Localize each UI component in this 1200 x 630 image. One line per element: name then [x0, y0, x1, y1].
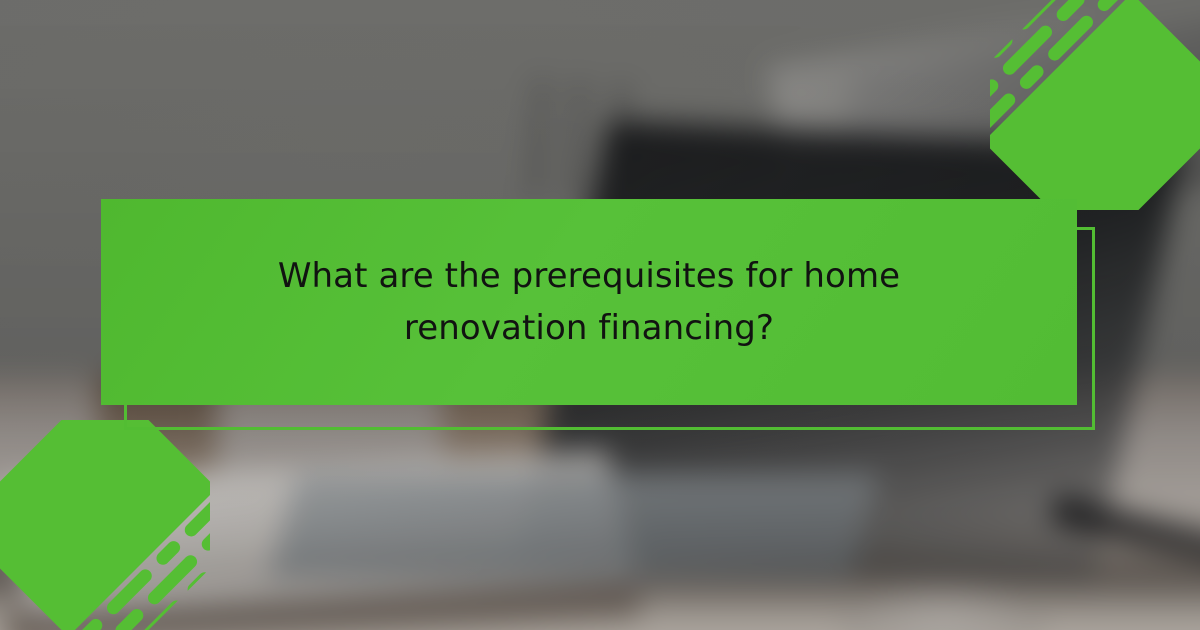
screenshot-canvas: What are the prerequisites for home reno…: [0, 0, 1200, 630]
question-title: What are the prerequisites for home reno…: [269, 250, 909, 354]
question-card: What are the prerequisites for home reno…: [101, 199, 1077, 405]
